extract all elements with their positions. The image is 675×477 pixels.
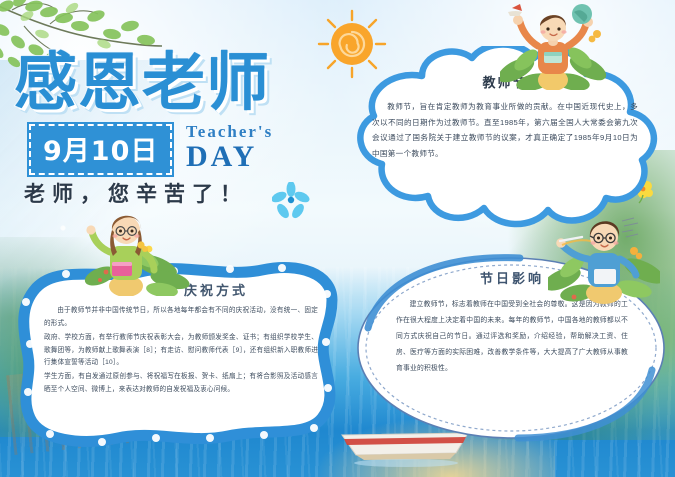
- section-paragraph: 教师节，旨在肯定教师为教育事业所做的贡献。在中国近现代史上，多次以不同的日期作为…: [372, 99, 638, 161]
- english-title-line1: Teacher's: [186, 122, 273, 142]
- poster-canvas: 感恩老师 9月10日 Teacher's DAY 老师，您辛苦了！ 教师节 教师…: [0, 0, 675, 477]
- female-teacher-glasses-green-dress-illustration: [82, 200, 190, 296]
- english-title-line2: DAY: [186, 142, 257, 172]
- section-paragraph: 政府、学校方面，有举行教师节庆祝表彰大会，为教师颁发奖金、证书；有组织学校学生、…: [44, 332, 318, 371]
- section-paragraph: 学生方面，有自发通过原创参与、将祝福写在板报、贺卡、纸扇上；有将合影照及活动感言…: [44, 371, 318, 397]
- section-paragraph: 由于教师节并非中国传统节日，所以各地每年都会有不同的庆祝活动，没有统一、固定的形…: [44, 305, 318, 331]
- page-title: 感恩老师: [14, 52, 334, 114]
- blue-flower-icon: [272, 182, 310, 220]
- date-badge: 9月10日: [29, 124, 172, 175]
- male-teacher-orange-shirt-illustration: [500, 0, 606, 90]
- section-paragraph: 建立教师节，标志着教师在中国受到全社会的尊敬。这是因为教师的工作在很大程度上决定…: [396, 297, 628, 377]
- section-paragraphs: 由于教师节并非中国传统节日，所以各地每年都会有不同的庆祝活动，没有统一、固定的形…: [44, 305, 318, 397]
- male-teacher-glasses-blue-shirt-illustration: [548, 205, 660, 305]
- poster-header: 感恩老师 9月10日 Teacher's DAY: [14, 52, 334, 176]
